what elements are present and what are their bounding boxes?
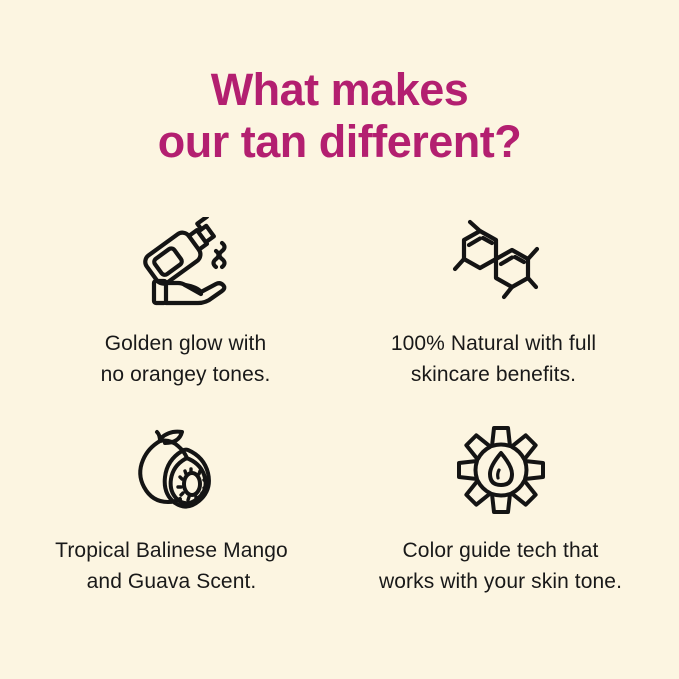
- molecule-hexagons-icon: [442, 215, 546, 311]
- feature-item-scent: Tropical Balinese Mango and Guava Scent.: [2, 422, 341, 632]
- feature-caption: Color guide tech that works with your sk…: [379, 535, 622, 597]
- guava-fruit-halved-icon: [120, 422, 224, 518]
- feature-caption-line-2: skincare benefits.: [391, 359, 596, 390]
- feature-grid: Golden glow with no orangey tones.: [0, 215, 679, 635]
- feature-caption-line-1: Golden glow with: [101, 328, 271, 359]
- page-title-line-2: our tan different?: [0, 116, 679, 168]
- feature-caption-line-2: and Guava Scent.: [55, 566, 288, 597]
- color-wheel-droplet-icon: [451, 422, 551, 518]
- feature-poster: What makes our tan different?: [0, 0, 679, 679]
- feature-caption: Golden glow with no orangey tones.: [101, 328, 271, 390]
- spray-bottle-on-hand-icon: [134, 215, 238, 311]
- feature-caption: Tropical Balinese Mango and Guava Scent.: [55, 535, 288, 597]
- feature-item-color-guide: Color guide tech that works with your sk…: [331, 422, 670, 632]
- feature-caption-line-1: 100% Natural with full: [391, 328, 596, 359]
- feature-item-golden-glow: Golden glow with no orangey tones.: [16, 215, 355, 425]
- feature-caption-line-2: works with your skin tone.: [379, 566, 622, 597]
- page-title-line-1: What makes: [0, 64, 679, 116]
- feature-caption-line-1: Color guide tech that: [379, 535, 622, 566]
- feature-item-natural: 100% Natural with full skincare benefits…: [324, 215, 663, 425]
- feature-caption-line-1: Tropical Balinese Mango: [55, 535, 288, 566]
- page-title: What makes our tan different?: [0, 64, 679, 168]
- feature-caption: 100% Natural with full skincare benefits…: [391, 328, 596, 390]
- feature-caption-line-2: no orangey tones.: [101, 359, 271, 390]
